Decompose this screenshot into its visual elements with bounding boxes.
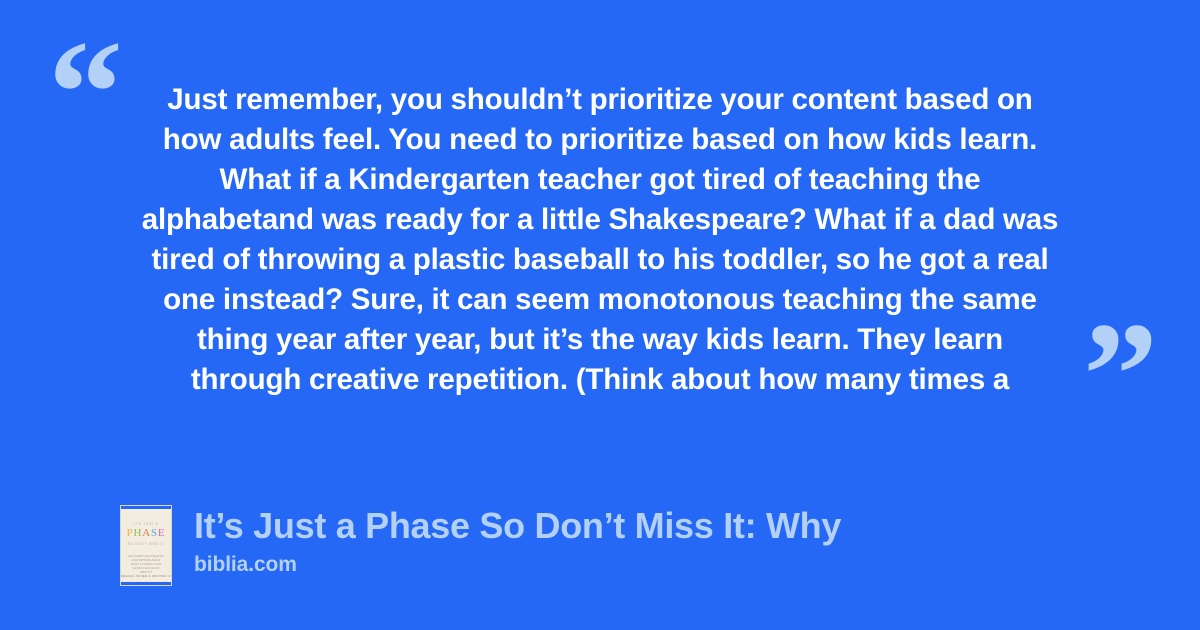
book-cover-letter: A <box>142 527 151 539</box>
book-cover-blurb: WHY EVERY LIFE STAGE OF A KID MATTERS AN… <box>128 555 164 575</box>
source-text-group: It’s Just a Phase So Don’t Miss It: Why … <box>194 505 841 577</box>
book-cover-kicker: IT’S JUST A <box>134 522 159 526</box>
quote-line: tired of throwing a plastic baseball to … <box>112 240 1088 280</box>
quote-line: What if a Kindergarten teacher got tired… <box>112 160 1088 200</box>
book-cover-title: PHASE <box>127 528 166 539</box>
book-cover-top-rule <box>121 506 171 509</box>
source-domain[interactable]: biblia.com <box>194 553 841 577</box>
book-cover-bottom-rule <box>121 582 171 585</box>
source-title[interactable]: It’s Just a Phase So Don’t Miss It: Why <box>194 505 841 547</box>
book-cover-letter: H <box>133 527 142 539</box>
quote-line: how adults feel. You need to prioritize … <box>112 120 1088 160</box>
quote-line: through creative repetition. (Think abou… <box>112 360 1088 400</box>
book-cover-thumbnail: IT’S JUST A PHASE SO DON’T MISS IT WHY E… <box>120 505 172 586</box>
book-cover-subtitle: SO DON’T MISS IT <box>128 542 164 546</box>
quote-line: one instead? Sure, it can seem monotonou… <box>112 280 1088 320</box>
book-cover-letter: S <box>151 527 158 539</box>
quote-text: Just remember, you shouldn’t prioritize … <box>112 80 1088 400</box>
quote-line: alphabetand was ready for a little Shake… <box>112 200 1088 240</box>
quote-line: thing year after year, but it’s the way … <box>112 320 1088 360</box>
quote-card: “ Just remember, you shouldn’t prioritiz… <box>0 0 1200 630</box>
source-attribution: IT’S JUST A PHASE SO DON’T MISS IT WHY E… <box>120 505 841 586</box>
book-cover-letter: E <box>158 527 166 539</box>
quote-block: “ Just remember, you shouldn’t prioritiz… <box>0 0 1200 470</box>
book-cover-authors: REGGIE JOINER & KRISTEN IVY <box>121 574 171 578</box>
close-quote-icon: ” <box>1083 300 1158 450</box>
quote-line: Just remember, you shouldn’t prioritize … <box>112 80 1088 120</box>
